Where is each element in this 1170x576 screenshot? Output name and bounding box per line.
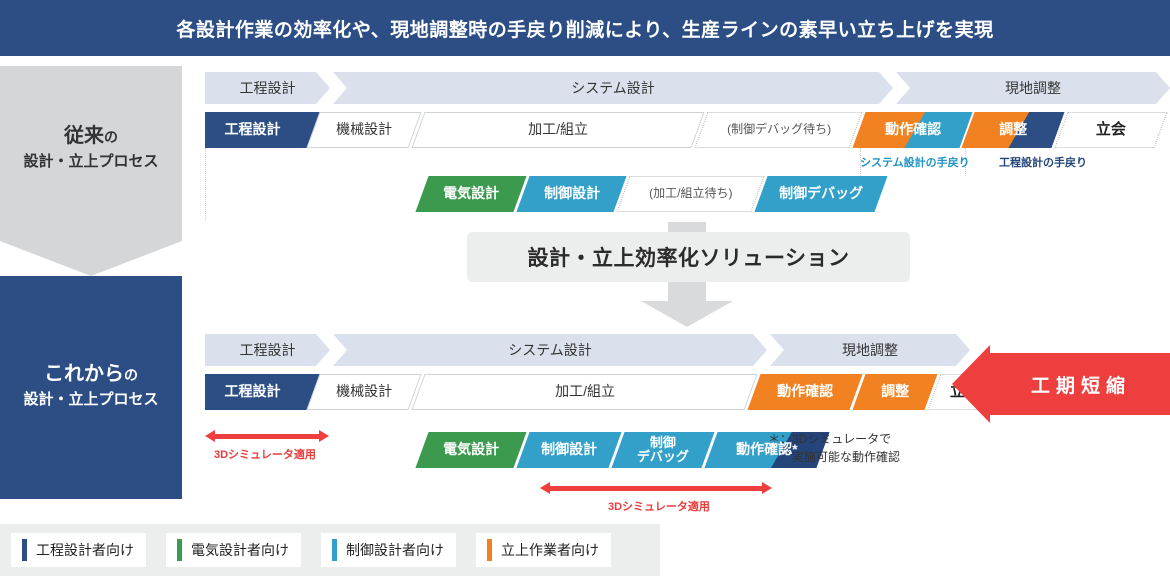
future-task-denki-sekkei: 電気設計 [415, 432, 526, 468]
legacy-annotation-process-rework: 工程設計の手戻り [999, 154, 1087, 170]
future-task-seigyo-sekkei: 制御設計 [516, 432, 621, 468]
measure-arrow-left [205, 430, 329, 442]
arrow-bar [212, 434, 322, 439]
solution-arrow-stem-bottom [668, 282, 706, 301]
reduction-arrow: 工期短縮 [988, 353, 1170, 415]
future-task-dousa-kakunin: 動作確認 [747, 374, 862, 410]
reduction-arrow-head-icon [952, 345, 990, 423]
arrow-bar [547, 486, 765, 491]
future-phase-1-label: システム設計 [508, 340, 592, 360]
legend-item-0: 工程設計者向け [11, 533, 146, 567]
legacy-annotation-system-rework: システム設計の手戻り [860, 154, 970, 170]
legacy-task-kikai-sekkei: 機械設計 [306, 112, 421, 148]
legend-label: 工程設計者向け [36, 540, 146, 560]
reduction-arrow-label: 工期短縮 [1031, 371, 1131, 398]
future-phase-2-label: 現地調整 [842, 340, 898, 360]
legend-item-2: 制御設計者向け [321, 533, 456, 567]
legacy-task-wait-debug: (制御デバッグ待ち) [694, 112, 862, 148]
legacy-phase-1: システム設計 [333, 72, 893, 104]
legacy-task-seigyo-sekkei: 制御設計 [516, 176, 626, 212]
measure-right-label: 3Dシミュレータ適用 [608, 498, 710, 514]
guide-line [205, 148, 206, 220]
legend-item-3: 立上作業者向け [476, 533, 611, 567]
legend-color-swatch [177, 539, 182, 561]
future-phase-1: システム設計 [333, 334, 767, 366]
solution-label: 設計・立上効率化ソリューション [527, 242, 849, 272]
future-phase-0: 工程設計 [205, 334, 330, 366]
future-task-seigyo-debug-label: 制御 デバッグ [637, 436, 689, 465]
legend-color-swatch [22, 539, 27, 561]
future-task-kikai-sekkei: 機械設計 [306, 374, 421, 410]
legacy-phase-0-label: 工程設計 [240, 78, 296, 98]
future-phase-2: 現地調整 [770, 334, 970, 366]
legacy-task-dousa-kakunin: 動作確認 [852, 112, 972, 148]
legend-color-swatch [487, 539, 492, 561]
legend-item-1: 電気設計者向け [166, 533, 301, 567]
legend-label: 立上作業者向け [501, 540, 611, 560]
arrow-right-head-icon [319, 430, 329, 442]
measure-arrow-right [540, 482, 772, 494]
diagram-canvas: 工程設計 システム設計 現地調整 工程設計 機械設計 加工/組立 (制御デバッグ… [0, 0, 1170, 576]
legend-label: 電気設計者向け [191, 540, 301, 560]
future-task-chousei: 調整 [852, 374, 937, 410]
legacy-task-seigyo-debug: 制御デバッグ [754, 176, 887, 212]
future-task-kakou-kumitate: 加工/組立 [411, 374, 757, 410]
legend-label: 制御設計者向け [346, 540, 456, 560]
solution-box: 設計・立上効率化ソリューション [467, 232, 910, 282]
future-phase-0-label: 工程設計 [240, 340, 296, 360]
legacy-phase-1-label: システム設計 [571, 78, 655, 98]
legend-color-swatch [332, 539, 337, 561]
legacy-task-denki-sekkei: 電気設計 [415, 176, 526, 212]
future-task-seigyo-debug: 制御 デバッグ [611, 432, 714, 468]
solution-arrow-head-icon [641, 301, 733, 327]
legacy-phase-0: 工程設計 [205, 72, 330, 104]
legacy-task-kakou-kumitate: 加工/組立 [411, 112, 704, 148]
arrow-right-head-icon [762, 482, 772, 494]
legacy-task-tachiai: 立会 [1054, 112, 1167, 148]
simulator-note: ＊：3Dシミュレータで 実施可能な動作確認 [768, 430, 900, 466]
legacy-task-chousei: 調整 [961, 112, 1064, 148]
measure-left-label: 3Dシミュレータ適用 [214, 446, 316, 462]
legacy-phase-2-label: 現地調整 [1005, 78, 1061, 98]
legacy-task-wait-assembly: (加工/組立待ち) [616, 176, 764, 212]
infographic-root: 各設計作業の効率化や、現地調整時の手戻り削減により、生産ラインの素早い立ち上げを… [0, 0, 1170, 576]
legacy-phase-2: 現地調整 [896, 72, 1170, 104]
